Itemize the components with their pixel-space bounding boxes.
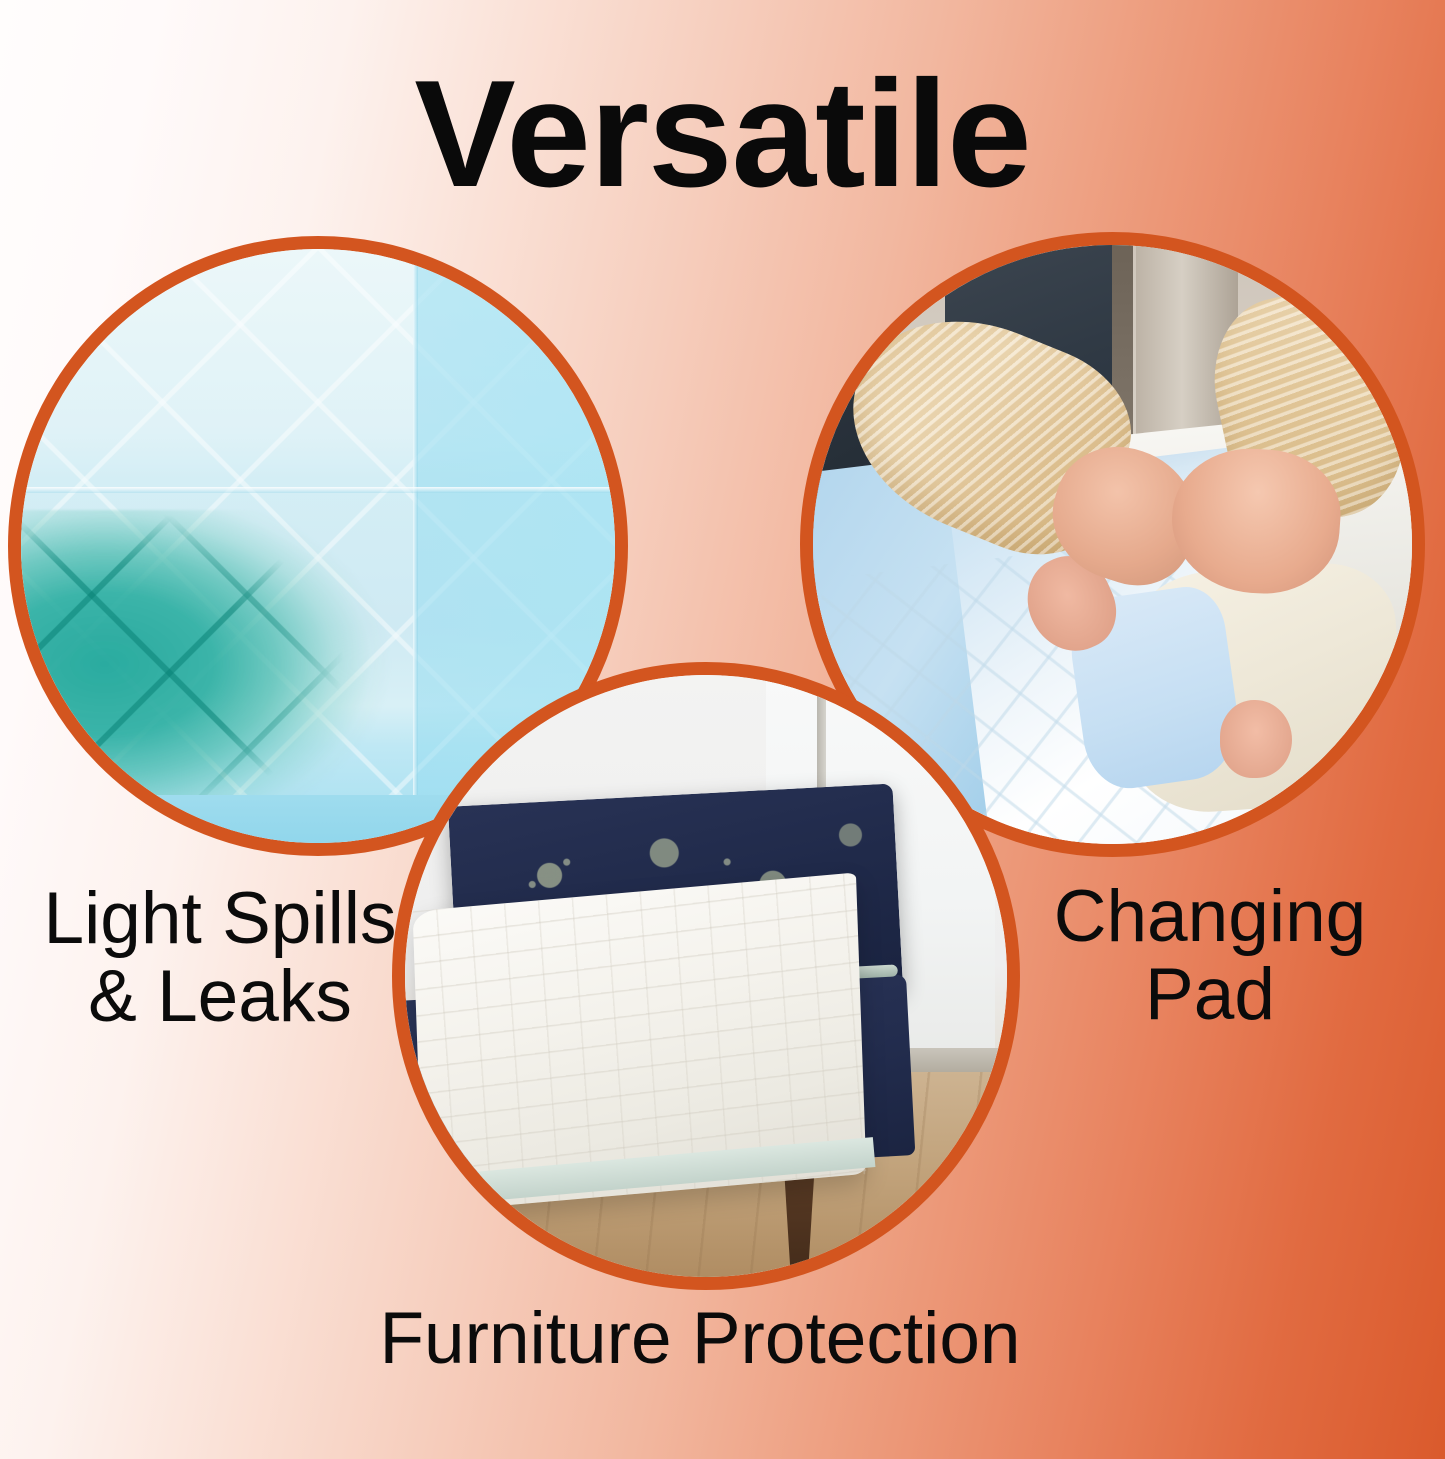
baby-foot-right [1220,700,1292,778]
caption-light-spills: Light Spills & Leaks [10,880,430,1036]
caption-furniture-protection: Furniture Protection [330,1300,1070,1378]
stain-quilt-lines [21,510,401,831]
pad-horizontal-fold [21,487,615,493]
versatile-infographic: Versatile [0,0,1445,1459]
caption-changing-pad: Changing Pad [1010,878,1410,1034]
chair-pad-photo [405,675,1007,1277]
panel-image-furniture-protection [392,662,1020,1290]
page-title: Versatile [0,58,1445,210]
